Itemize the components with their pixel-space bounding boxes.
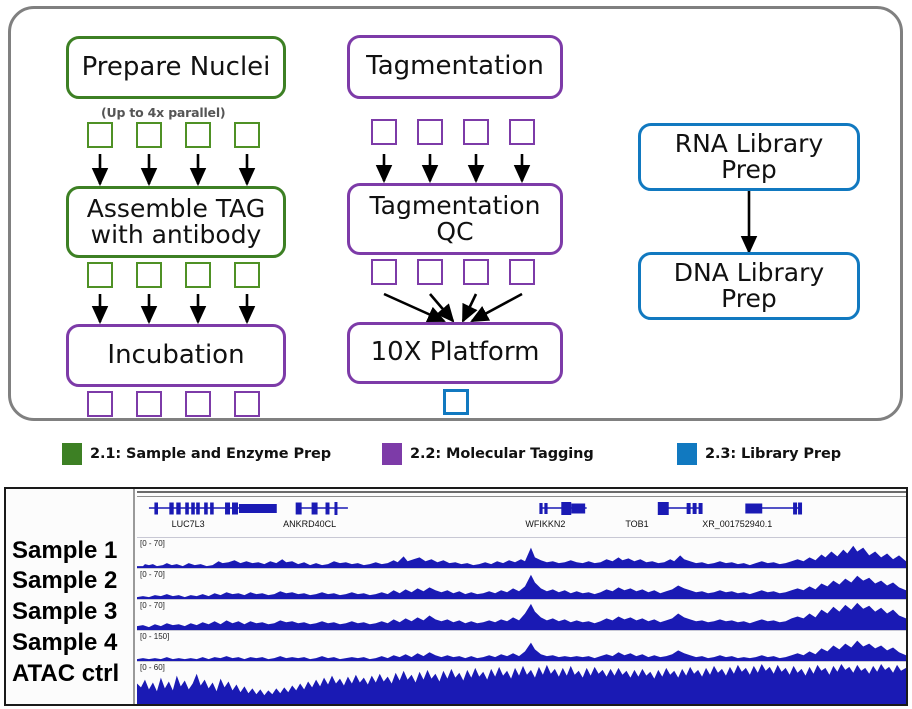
track-signal-svg — [137, 600, 906, 630]
signal-track-sample-1: [0 - 70] — [137, 537, 906, 568]
workflow-panel: Prepare Nuclei (Up to 4x parallel) Assem… — [8, 6, 903, 421]
legend-label: 2.3: Library Prep — [705, 446, 841, 462]
track-label-column: Sample 1 Sample 2 Sample 3 Sample 4 ATAC… — [6, 489, 135, 704]
sample-square-purple-bottom[interactable] — [87, 391, 113, 417]
signal-track-sample-4: [0 - 150] — [137, 630, 906, 661]
sample-square-green-mid[interactable] — [185, 262, 211, 288]
track-label-sample-4: Sample 4 — [12, 629, 117, 657]
node-incubation[interactable]: Incubation — [66, 324, 286, 387]
sample-square-purple-bottom[interactable] — [136, 391, 162, 417]
track-signal-svg — [137, 569, 906, 599]
node-prepare-nuclei[interactable]: Prepare Nuclei — [66, 36, 286, 99]
library-square-blue[interactable] — [443, 389, 469, 415]
track-label-sample-1: Sample 1 — [12, 537, 117, 565]
track-range-label: [0 - 70] — [140, 570, 165, 579]
track-range-label: [0 - 150] — [140, 632, 169, 641]
node-dna-library-prep[interactable]: DNA Library Prep — [638, 252, 860, 320]
track-signal-svg — [137, 662, 906, 704]
sample-square-green-mid[interactable] — [136, 262, 162, 288]
node-label: Assemble TAG with antibody — [87, 196, 265, 249]
tag-square-mid[interactable] — [417, 259, 443, 285]
gene-models-svg — [137, 499, 906, 519]
legend-item-molecular-tagging: 2.2: Molecular Tagging — [382, 443, 594, 465]
signal-track-sample-2: [0 - 70] — [137, 568, 906, 599]
node-tagmentation[interactable]: Tagmentation — [347, 35, 563, 99]
legend: 2.1: Sample and Enzyme Prep 2.2: Molecul… — [0, 437, 912, 473]
node-label: 10X Platform — [371, 339, 540, 366]
tag-square-mid[interactable] — [509, 259, 535, 285]
track-range-label: [0 - 70] — [140, 601, 165, 610]
legend-swatch — [62, 443, 82, 465]
legend-item-sample-enzyme-prep: 2.1: Sample and Enzyme Prep — [62, 443, 331, 465]
sample-square-green-top[interactable] — [234, 122, 260, 148]
sample-square-green-mid[interactable] — [87, 262, 113, 288]
track-range-label: [0 - 70] — [140, 539, 165, 548]
gene-label-luc7l3: LUC7L3 — [172, 519, 205, 529]
track-signal-svg — [137, 538, 906, 568]
parallel-note: (Up to 4x parallel) — [101, 105, 225, 120]
tag-square-mid[interactable] — [371, 259, 397, 285]
node-label: Incubation — [107, 342, 244, 369]
sample-square-green-top[interactable] — [87, 122, 113, 148]
node-label: DNA Library Prep — [674, 260, 824, 313]
node-label: Tagmentation — [366, 53, 544, 80]
track-range-label: [0 - 60] — [140, 663, 165, 672]
legend-swatch — [677, 443, 697, 465]
panel-rule-second — [137, 496, 906, 497]
tag-square-top[interactable] — [417, 119, 443, 145]
tag-square-top[interactable] — [509, 119, 535, 145]
gene-label-wfikkn2: WFIKKN2 — [525, 519, 565, 529]
node-rna-library-prep[interactable]: RNA Library Prep — [638, 123, 860, 191]
legend-swatch — [382, 443, 402, 465]
legend-item-library-prep: 2.3: Library Prep — [677, 443, 841, 465]
node-label: Tagmentation QC — [370, 193, 541, 246]
node-label: RNA Library Prep — [675, 131, 824, 184]
sample-square-green-mid[interactable] — [234, 262, 260, 288]
signal-track-sample-3: [0 - 70] — [137, 599, 906, 630]
node-assemble-tag[interactable]: Assemble TAG with antibody — [66, 186, 286, 258]
gene-label-tob1: TOB1 — [625, 519, 648, 529]
track-signal-svg — [137, 631, 906, 661]
tag-square-top[interactable] — [463, 119, 489, 145]
gene-annotation-track: LUC7L3 ANKRD40CL WFIKKN2 TOB1 XR_0017529… — [137, 499, 906, 531]
figure-root: Prepare Nuclei (Up to 4x parallel) Assem… — [0, 0, 912, 709]
node-label: Prepare Nuclei — [82, 54, 271, 81]
node-tenx-platform[interactable]: 10X Platform — [347, 322, 563, 384]
track-label-sample-3: Sample 3 — [12, 598, 117, 626]
sample-square-green-top[interactable] — [185, 122, 211, 148]
node-tagmentation-qc[interactable]: Tagmentation QC — [347, 183, 563, 255]
tag-square-top[interactable] — [371, 119, 397, 145]
gene-label-xr001752940: XR_001752940.1 — [702, 519, 772, 529]
tag-square-mid[interactable] — [463, 259, 489, 285]
panel-rule-top — [137, 491, 906, 493]
track-label-sample-2: Sample 2 — [12, 567, 117, 595]
gene-label-ankrd40cl: ANKRD40CL — [283, 519, 336, 529]
track-label-atac-ctrl: ATAC ctrl — [12, 660, 119, 688]
sample-square-purple-bottom[interactable] — [234, 391, 260, 417]
legend-label: 2.1: Sample and Enzyme Prep — [90, 446, 331, 462]
sample-square-green-top[interactable] — [136, 122, 162, 148]
track-data-column: LUC7L3 ANKRD40CL WFIKKN2 TOB1 XR_0017529… — [137, 489, 906, 704]
sample-square-purple-bottom[interactable] — [185, 391, 211, 417]
signal-track-atac-ctrl: [0 - 60] — [137, 661, 906, 704]
legend-label: 2.2: Molecular Tagging — [410, 446, 594, 462]
genome-browser-panel: Sample 1 Sample 2 Sample 3 Sample 4 ATAC… — [4, 487, 908, 706]
